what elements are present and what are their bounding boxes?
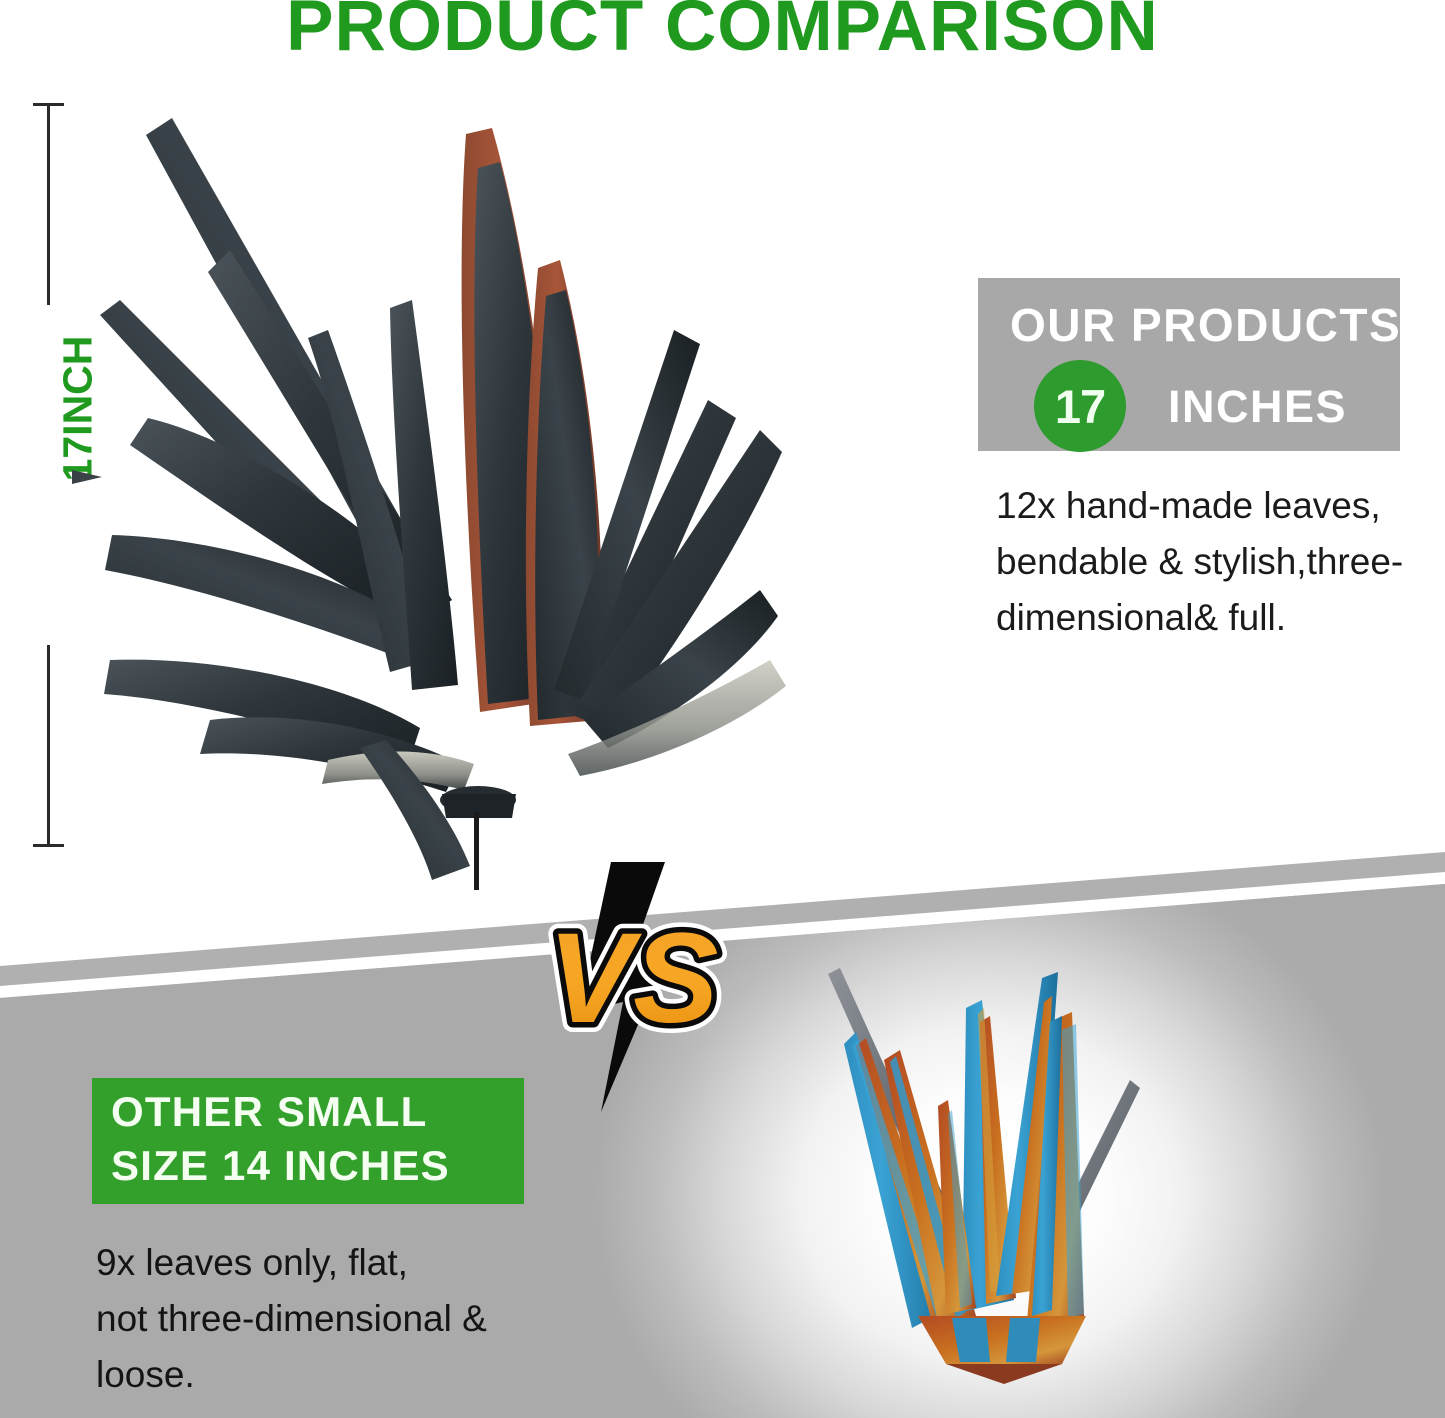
svg-text:VS: VS [548,907,719,1050]
our-products-description: 12x hand-made leaves, bendable & stylish… [996,478,1436,647]
dimension-rule-upper [47,105,50,305]
dimension-arrow-icon [72,470,102,484]
page-title: PRODUCT COMPARISON [0,0,1445,67]
dimension-label: 17INCH [55,326,102,492]
other-product-description-line-2: not three-dimensional & [96,1291,566,1347]
other-product-image [800,960,1190,1390]
our-products-title: OUR PRODUCTS [1010,298,1401,352]
other-product-description-line-3: loose. [96,1347,566,1403]
other-product-badge-line-2: SIZE 14 INCHES [111,1142,450,1190]
our-product-image [60,100,800,890]
versus-letters: VS VS VS [548,907,719,1050]
other-product-badge: OTHER SMALL SIZE 14 INCHES [92,1078,524,1204]
our-products-size-number: 17 [1055,383,1105,430]
our-products-size-unit: INCHES [1168,381,1347,433]
product-comparison-infographic: PRODUCT COMPARISON [0,0,1445,1418]
dimension-tick-bottom [33,844,64,847]
our-products-size-circle: 17 [1034,360,1126,452]
dimension-rule-lower [47,645,50,846]
other-product-badge-line-1: OTHER SMALL [111,1088,428,1136]
versus-badge: VS VS VS [513,862,753,1112]
our-products-description-line-2: bendable & stylish,three- [996,534,1436,590]
other-product-description: 9x leaves only, flat, not three-dimensio… [96,1235,566,1404]
our-products-description-line-3: dimensional& full. [996,590,1436,646]
our-products-description-line-1: 12x hand-made leaves, [996,478,1436,534]
our-products-badge: OUR PRODUCTS 17 INCHES [978,278,1400,451]
dimension-indicator: 17INCH [28,95,98,855]
other-product-description-line-1: 9x leaves only, flat, [96,1235,566,1291]
